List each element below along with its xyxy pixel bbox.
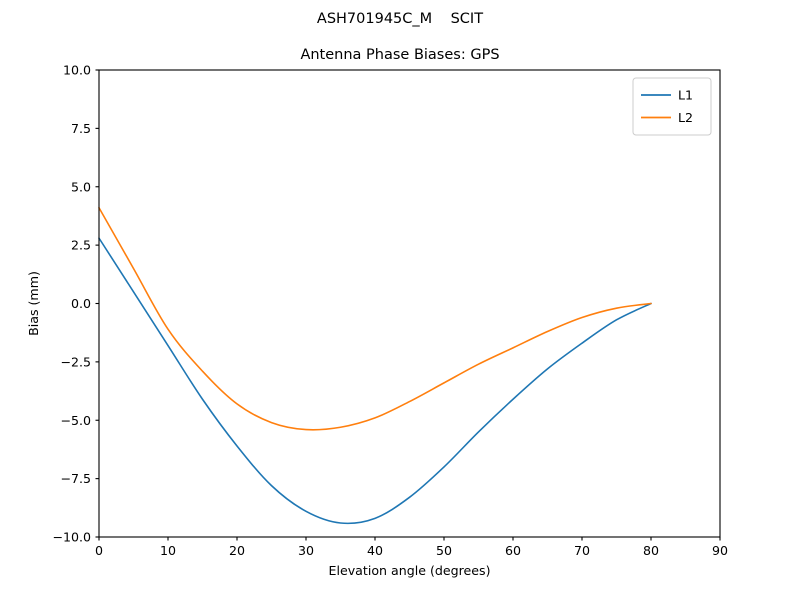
series-line-l2 — [99, 208, 651, 430]
x-tick-label: 80 — [643, 543, 659, 558]
series-line-l1 — [99, 238, 651, 523]
y-axis-ticks: −10.0−7.5−5.0−2.50.02.55.07.510.0 — [52, 63, 99, 545]
legend-label-l2: L2 — [678, 110, 693, 125]
x-tick-label: 20 — [229, 543, 245, 558]
x-tick-label: 90 — [712, 543, 728, 558]
x-tick-label: 70 — [574, 543, 590, 558]
y-tick-label: 10.0 — [63, 63, 91, 78]
y-tick-label: −5.0 — [60, 413, 91, 428]
x-axis-label: Elevation angle (degrees) — [329, 563, 491, 578]
x-tick-label: 60 — [505, 543, 521, 558]
y-tick-label: 0.0 — [71, 296, 91, 311]
x-tick-label: 50 — [436, 543, 452, 558]
x-tick-label: 10 — [160, 543, 176, 558]
x-tick-label: 0 — [95, 543, 103, 558]
series-lines — [99, 208, 651, 524]
x-tick-label: 40 — [367, 543, 383, 558]
legend-box — [633, 78, 711, 135]
y-tick-label: 2.5 — [71, 238, 91, 253]
x-axis-ticks: 0102030405060708090 — [95, 537, 728, 558]
y-tick-label: −7.5 — [60, 471, 91, 486]
y-tick-label: 7.5 — [71, 121, 91, 136]
x-tick-label: 30 — [298, 543, 314, 558]
y-axis-label: Bias (mm) — [26, 271, 41, 336]
chart-figure: ASH701945C_M SCIT Antenna Phase Biases: … — [0, 0, 800, 600]
y-tick-label: −10.0 — [52, 530, 91, 545]
legend-label-l1: L1 — [678, 88, 693, 103]
plot-canvas: 0102030405060708090 −10.0−7.5−5.0−2.50.0… — [0, 0, 800, 600]
y-tick-label: 5.0 — [71, 179, 91, 194]
y-tick-label: −2.5 — [60, 354, 91, 369]
axes-spines — [99, 70, 720, 537]
chart-legend[interactable]: L1L2 — [633, 78, 711, 135]
